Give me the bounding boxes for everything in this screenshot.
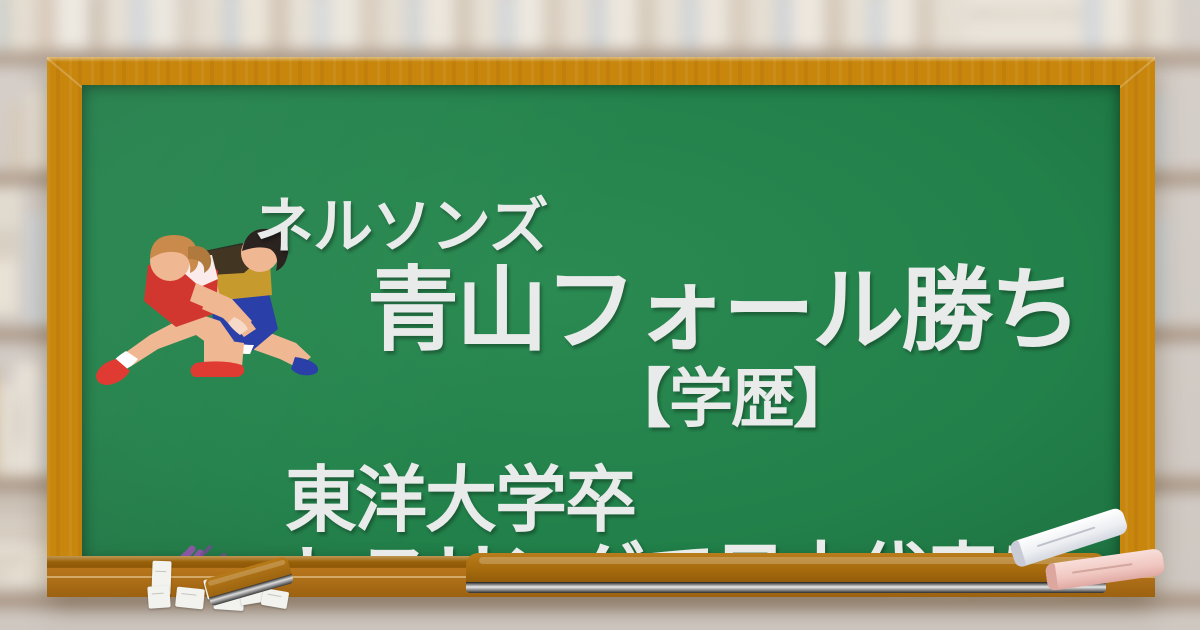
chalk-stick-white-line bbox=[1037, 527, 1096, 547]
headline-line-4: 東洋大学卒 bbox=[285, 464, 635, 536]
blackboard-eraser-large[interactable] bbox=[466, 553, 1106, 593]
thumbnail-canvas: AMERICAN ON PURPOSE bbox=[0, 0, 1200, 630]
chalk-piece[interactable] bbox=[147, 585, 170, 608]
headline-line-1: ネルソンズ bbox=[254, 197, 548, 257]
chalk-stick-pink-line bbox=[1072, 563, 1133, 573]
red-knee-shoe bbox=[190, 361, 244, 377]
chalk-piece[interactable] bbox=[175, 587, 205, 610]
eraser-felt bbox=[466, 582, 1106, 593]
blackboard-frame: ネルソンズ 青山フォール勝ち 【学歴】 東洋大学卒 レスリングで日本代表に bbox=[47, 57, 1155, 597]
eraser-highlight bbox=[479, 557, 1093, 564]
blackboard-surface: ネルソンズ 青山フォール勝ち 【学歴】 東洋大学卒 レスリングで日本代表に bbox=[82, 85, 1120, 563]
frame-highlight bbox=[47, 57, 1155, 62]
blue-shoe bbox=[291, 357, 318, 375]
headline-line-3: 【学歴】 bbox=[607, 368, 855, 432]
headline-line-2: 青山フォール勝ち bbox=[367, 265, 1079, 357]
